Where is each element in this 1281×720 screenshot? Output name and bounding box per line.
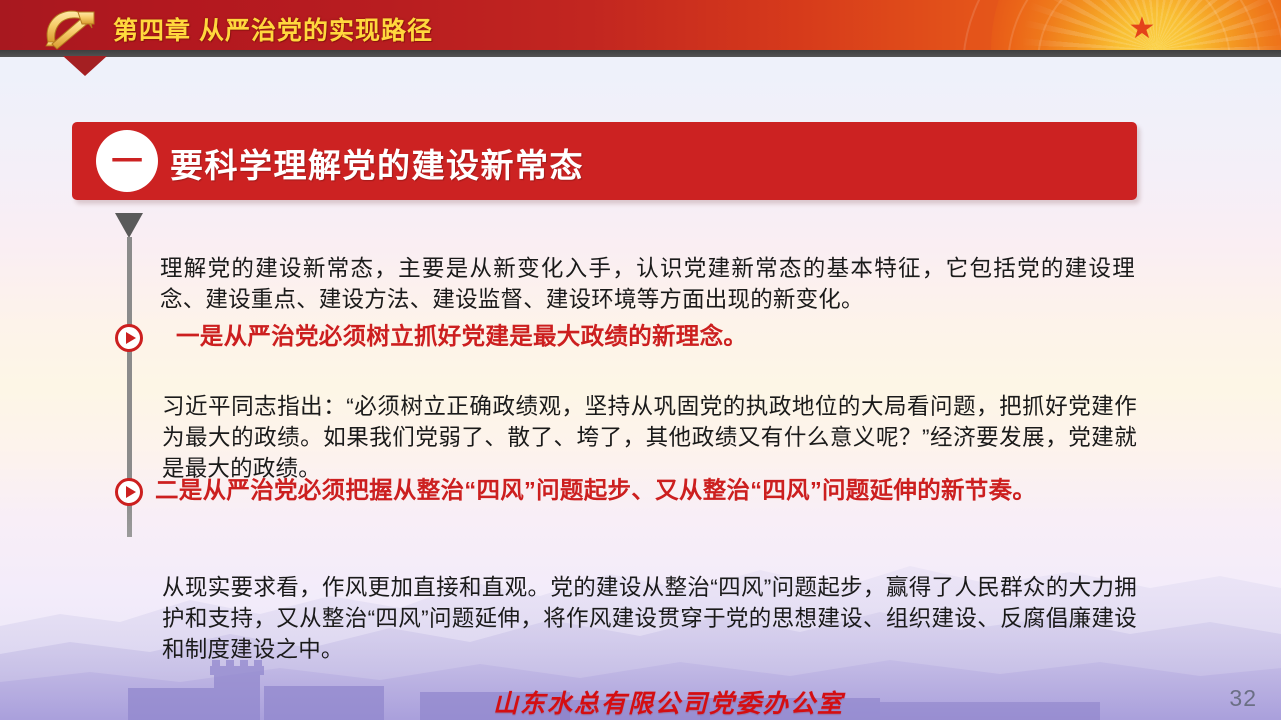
chapter-header-bar: ★ 第四章 从严治党的实现路径 [0,0,1281,57]
section-number-label: 一 [112,146,143,177]
section-number-badge: 一 [96,130,158,192]
point-heading-1: 一是从严治党必须树立抓好党建是最大政绩的新理念。 [176,320,1136,352]
header-divider [0,50,1281,57]
intro-paragraph: 理解党的建设新常态，主要是从新变化入手，认识党建新常态的基本特征，它包括党的建设… [160,253,1135,315]
header-notch-triangle [63,56,107,76]
section-title: 要科学理解党的建设新常态 [170,139,584,187]
timeline-arrow-icon [115,213,143,238]
page-number: 32 [1229,685,1257,712]
play-circle-icon [115,478,143,506]
point-body-1: 习近平同志指出：“必须树立正确政绩观，坚持从巩固党的执政地位的大局看问题，把抓好… [162,391,1137,484]
hammer-sickle-emblem-icon [38,4,100,50]
slide-canvas: ★ 第四章 从严治党的实现路径 [0,0,1281,720]
chapter-title: 第四章 从严治党的实现路径 [113,11,433,47]
point-heading-2: 二是从严治党必须把握从整治“四风”问题起步、又从整治“四风”问题延伸的新节奏。 [155,474,1175,506]
point-body-2: 从现实要求看，作风更加直接和直观。党的建设从整治“四风”问题起步，赢得了人民群众… [162,572,1137,665]
section-title-banner: 一 要科学理解党的建设新常态 [72,122,1137,200]
star-icon: ★ [1126,13,1158,45]
play-circle-icon [115,324,143,352]
footer-brand: 山东水总有限公司党委办公室 [493,684,844,720]
